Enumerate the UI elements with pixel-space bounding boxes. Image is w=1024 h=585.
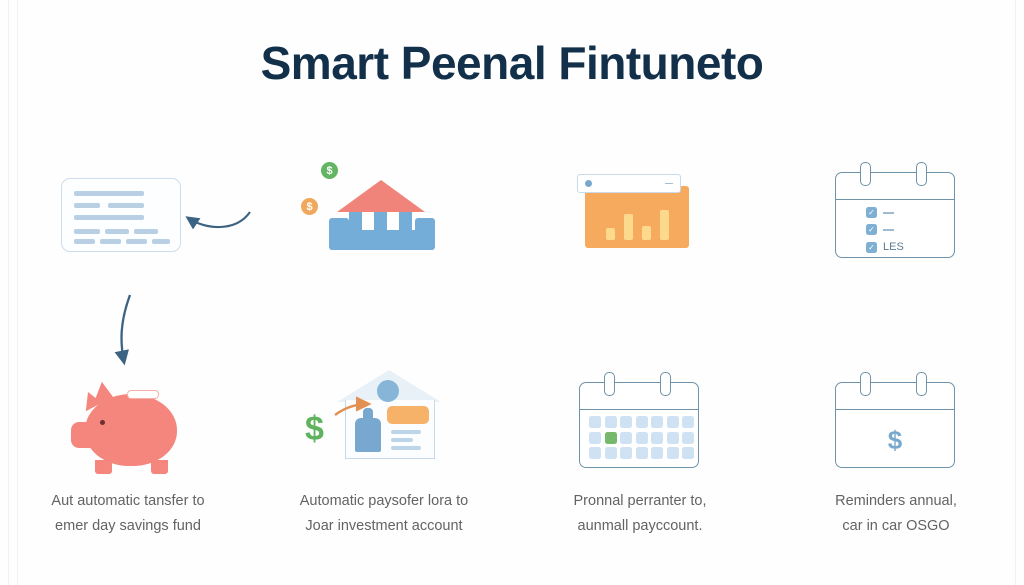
top-cell-calendar-checklist: ✓ ✓ ✓ LES (768, 150, 1024, 280)
coin-green-icon: $ (321, 162, 338, 179)
bottom-cell-calendar-payment: $ Reminders annual, car in car OSGO (768, 360, 1024, 540)
caption-line-2: emer day savings fund (18, 514, 238, 539)
checkbox-checked-icon: ✓ (866, 242, 877, 253)
calendar-header-divider (836, 409, 954, 410)
bank-building-icon: $ $ (299, 150, 469, 265)
coin-orange-icon: $ (301, 198, 318, 215)
checkbox-checked-icon: ✓ (866, 207, 877, 218)
chart-window-body (585, 186, 689, 248)
top-cell-chart-window (512, 150, 768, 280)
house-figure (355, 418, 381, 452)
calendar-grid-icon (555, 360, 725, 475)
bank-roof (337, 180, 425, 212)
calendar-checklist-icon: ✓ ✓ ✓ LES (811, 150, 981, 265)
piggy-leg-2 (151, 460, 168, 474)
caption-piggy: Aut automatic tansfer to emer day saving… (18, 489, 238, 540)
top-cell-statement (0, 150, 256, 280)
calendar-body (579, 382, 699, 468)
checklist-row-2: ✓ (866, 224, 904, 235)
arrow-card-to-piggy (122, 295, 130, 362)
bottom-cell-calendar-grid: Pronnal perranter to, aunmall payccount. (512, 360, 768, 540)
checklist-row-3: ✓ LES (866, 241, 904, 253)
caption-calendar-grid: Pronnal perranter to, aunmall payccount. (530, 489, 750, 540)
chart-window-icon (555, 150, 725, 265)
checkbox-checked-icon: ✓ (866, 224, 877, 235)
bottom-cell-house: $ Automatic paysofer lora to Joar invest… (256, 360, 512, 540)
calendar-ring-right (660, 372, 671, 396)
piggy-body (85, 394, 177, 466)
piggy-eye (100, 420, 105, 425)
top-cell-bank: $ $ (256, 150, 512, 280)
page-title: Smart Peenal Fintuneto (0, 36, 1024, 90)
dollar-sign-icon: $ (836, 425, 954, 456)
calendar-ring-left (860, 162, 871, 186)
piggy-bank-icon (43, 360, 213, 475)
calendar-ring-right (916, 162, 927, 186)
piggy-coin-slot (127, 390, 159, 399)
house-speech-bubble (387, 406, 429, 424)
piggy-leg-1 (95, 460, 112, 474)
caption-house: Automatic paysofer lora to Joar investme… (274, 489, 494, 540)
caption-line-1: Pronnal perranter to, (530, 489, 750, 514)
window-dot-icon (585, 180, 592, 187)
checklist-dash-2 (883, 229, 894, 231)
window-title-bar (577, 174, 681, 193)
calendar-day-grid (589, 416, 694, 459)
window-minimize-icon (665, 183, 673, 185)
house-investment-icon: $ (299, 360, 469, 475)
top-icon-row: $ $ (0, 150, 1024, 280)
calendar-header-divider (580, 409, 698, 410)
piggy-snout (71, 422, 95, 448)
house-circle-badge (377, 380, 399, 402)
caption-line-1: Aut automatic tansfer to (18, 489, 238, 514)
calendar-header-divider (836, 199, 954, 200)
calendar-checklist: ✓ ✓ ✓ LES (866, 207, 904, 253)
statement-card-body (61, 178, 181, 252)
caption-line-2: Joar investment account (274, 514, 494, 539)
calendar-ring-left (604, 372, 615, 396)
checklist-dash-1 (883, 212, 894, 214)
bank-base (331, 230, 431, 250)
caption-line-1: Automatic paysofer lora to (274, 489, 494, 514)
bottom-cell-piggy: Aut automatic tansfer to emer day saving… (0, 360, 256, 540)
caption-line-2: car in car OSGO (786, 514, 1006, 539)
caption-line-2: aunmall payccount. (530, 514, 750, 539)
calendar-body: ✓ ✓ ✓ LES (835, 172, 955, 258)
statement-card-icon (43, 150, 213, 265)
caption-calendar-payment: Reminders annual, car in car OSGO (786, 489, 1006, 540)
calendar-ring-right (916, 372, 927, 396)
caption-line-1: Reminders annual, (786, 489, 1006, 514)
calendar-highlighted-day (605, 432, 617, 444)
calendar-body: $ (835, 382, 955, 468)
bottom-icon-row: Aut automatic tansfer to emer day saving… (0, 360, 1024, 540)
checklist-label: LES (883, 241, 904, 253)
calendar-ring-left (860, 372, 871, 396)
dollar-sign-icon: $ (305, 412, 324, 446)
calendar-payment-icon: $ (811, 360, 981, 475)
checklist-row-1: ✓ (866, 207, 904, 218)
infographic-canvas: Smart Peenal Fintuneto (0, 0, 1024, 585)
chart-bars (585, 206, 689, 240)
